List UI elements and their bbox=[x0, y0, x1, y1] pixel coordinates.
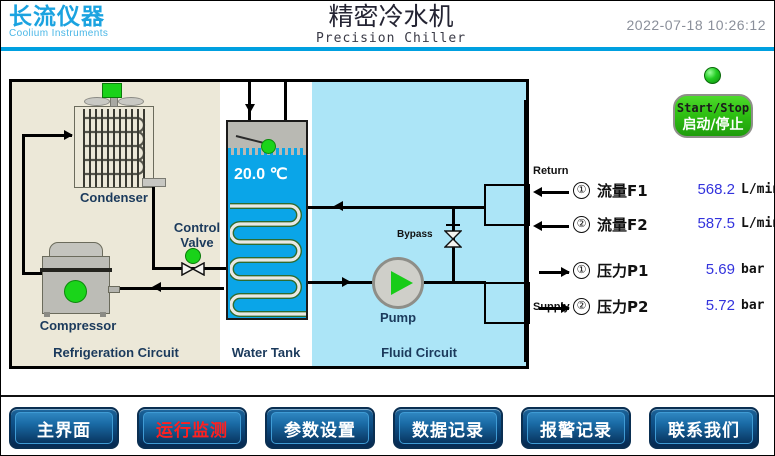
nav-button-label: 主界面 bbox=[37, 416, 91, 441]
header-bar: 长流仪器 Coolium Instruments 精密冷水机 Precision… bbox=[1, 1, 775, 47]
bypass-valve-handwheel bbox=[446, 224, 460, 226]
zone-label-fluid: Fluid Circuit bbox=[312, 345, 526, 360]
evaporator-coil-icon bbox=[230, 200, 308, 318]
measurement-value: 587.5 bbox=[681, 215, 735, 232]
nav-button-2[interactable]: 运行监测 bbox=[137, 407, 247, 449]
nav-button-label: 数据记录 bbox=[412, 416, 484, 441]
condenser-unit bbox=[74, 106, 154, 188]
channel-number: ① bbox=[573, 262, 590, 279]
nav-button-face: 联系我们 bbox=[655, 412, 753, 444]
logo-text-cn: 长流仪器 bbox=[9, 5, 149, 29]
measurement-connector-line bbox=[539, 271, 569, 274]
pipe-comp-to-cond-vertical bbox=[22, 134, 25, 274]
circulation-pump bbox=[372, 257, 424, 309]
return-line-label: Return bbox=[533, 165, 568, 177]
nav-button-face: 数据记录 bbox=[399, 412, 497, 444]
arrow-tank-fill bbox=[245, 104, 255, 113]
measurement-connector-line bbox=[539, 191, 569, 194]
navigation-bar: 主界面运行监测参数设置数据记录报警记录联系我们 bbox=[1, 403, 775, 453]
pump-label: Pump bbox=[352, 310, 444, 325]
measurement-label: 流量F1 bbox=[597, 180, 648, 201]
nav-button-6[interactable]: 联系我们 bbox=[649, 407, 759, 449]
nav-button-label: 参数设置 bbox=[284, 416, 356, 441]
channel-number: ② bbox=[573, 216, 590, 233]
condenser-fins bbox=[83, 109, 147, 187]
company-logo: 长流仪器 Coolium Instruments bbox=[9, 5, 149, 45]
datetime-display: 2022-07-18 10:26:12 bbox=[627, 17, 767, 33]
page-title-cn: 精密冷水机 bbox=[251, 3, 531, 31]
measurement-connector-line bbox=[539, 307, 569, 310]
zone-label-water-tank: Water Tank bbox=[220, 345, 312, 360]
measurement-label: 流量F2 bbox=[597, 214, 648, 235]
measurement-label: 压力P1 bbox=[597, 260, 648, 281]
compressor-foot-left bbox=[44, 312, 50, 317]
compressor-discharge-port bbox=[108, 286, 120, 293]
compressor-band bbox=[40, 268, 112, 272]
nav-button-face: 运行监测 bbox=[143, 412, 241, 444]
pipe-tank-to-pump bbox=[308, 281, 374, 284]
compressor-unit bbox=[42, 242, 110, 314]
arrow-tank-to-pump bbox=[342, 277, 351, 287]
measurement-value: 5.72 bbox=[681, 297, 735, 314]
hmi-screen: 长流仪器 Coolium Instruments 精密冷水机 Precision… bbox=[0, 0, 775, 456]
nav-button-face: 报警记录 bbox=[527, 412, 625, 444]
control-valve-status-indicator bbox=[185, 248, 201, 264]
measurement-row: ②压力P25.72bar bbox=[531, 295, 774, 321]
bypass-valve-symbol bbox=[444, 230, 462, 248]
channel-number: ① bbox=[573, 182, 590, 199]
pipe-tank-fill-left bbox=[248, 82, 251, 120]
nav-button-face: 参数设置 bbox=[271, 412, 369, 444]
measurement-unit: bar bbox=[741, 298, 764, 313]
arrow-suction-line bbox=[152, 282, 161, 292]
water-tank: 20.0 ℃ bbox=[226, 120, 308, 320]
pump-run-indicator bbox=[391, 271, 413, 295]
compressor-label: Compressor bbox=[18, 318, 138, 333]
nav-button-label: 运行监测 bbox=[156, 416, 228, 441]
nav-button-face: 主界面 bbox=[15, 412, 113, 444]
nav-separator bbox=[1, 395, 775, 397]
zone-label-refrigeration: Refrigeration Circuit bbox=[12, 345, 220, 360]
pipe-liquid-line bbox=[152, 187, 155, 269]
process-mimic-diagram: Condenser Compressor Control Valve bbox=[9, 79, 529, 369]
measurement-row: ①压力P15.69bar bbox=[531, 259, 774, 285]
measurement-unit: L/min bbox=[741, 216, 775, 231]
measurement-row: ②流量F2587.5L/min bbox=[531, 213, 774, 239]
measurement-unit: bar bbox=[741, 262, 764, 277]
control-valve-label: Control Valve bbox=[160, 220, 234, 250]
pipe-tank-vent-right bbox=[284, 82, 287, 120]
arrow-cond-inlet bbox=[64, 130, 73, 140]
compressor-status-indicator bbox=[64, 280, 87, 303]
nav-button-label: 报警记录 bbox=[540, 416, 612, 441]
pipe-pump-discharge bbox=[424, 281, 486, 284]
tank-temperature-readout: 20.0 ℃ bbox=[234, 164, 304, 184]
control-valve-icon bbox=[181, 262, 205, 276]
bypass-valve-icon bbox=[444, 230, 462, 248]
condenser-label: Condenser bbox=[64, 190, 164, 205]
channel-number: ② bbox=[573, 298, 590, 315]
nav-button-5[interactable]: 报警记录 bbox=[521, 407, 631, 449]
pipe-suction-line bbox=[120, 287, 224, 290]
measurement-value: 568.2 bbox=[681, 181, 735, 198]
arrow-tank-return bbox=[334, 201, 343, 211]
nav-button-3[interactable]: 参数设置 bbox=[265, 407, 375, 449]
measurement-connector-line bbox=[539, 225, 569, 228]
measurement-label: 压力P2 bbox=[597, 296, 648, 317]
condenser-outlet-port bbox=[142, 178, 166, 187]
nav-button-1[interactable]: 主界面 bbox=[9, 407, 119, 449]
level-sensor-float-indicator bbox=[261, 139, 276, 154]
process-boundary-wall bbox=[524, 100, 529, 362]
nav-button-label: 联系我们 bbox=[668, 416, 740, 441]
control-valve-symbol bbox=[181, 262, 205, 276]
nav-button-4[interactable]: 数据记录 bbox=[393, 407, 503, 449]
logo-text-en: Coolium Instruments bbox=[9, 28, 149, 40]
header-accent-divider bbox=[1, 47, 775, 51]
bypass-label: Bypass bbox=[397, 229, 433, 240]
measurement-unit: L/min bbox=[741, 182, 775, 197]
measurement-row: ①流量F1568.2L/min bbox=[531, 179, 774, 205]
measurement-panel: Return Supply ①流量F1568.2L/min②流量F2587.5L… bbox=[531, 79, 774, 369]
compressor-foot-right bbox=[100, 312, 106, 317]
condenser-status-indicator bbox=[102, 83, 122, 98]
page-title-en: Precision Chiller bbox=[251, 31, 531, 46]
measurement-value: 5.69 bbox=[681, 261, 735, 278]
